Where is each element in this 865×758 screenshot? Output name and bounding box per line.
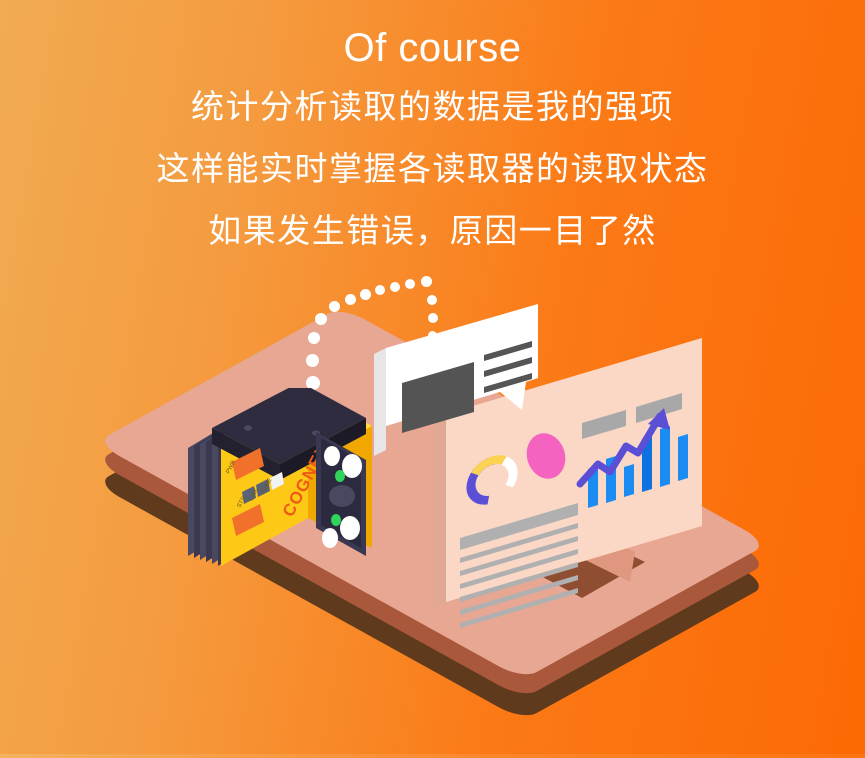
promo-banner: PWR STS LINK TUNE COGNEX Of course 统计分析读…	[0, 0, 865, 758]
led-white	[324, 446, 340, 466]
signal-dot	[315, 313, 327, 325]
led-green	[335, 470, 345, 482]
chart-bar	[624, 464, 634, 497]
subtitle-line-1: 统计分析读取的数据是我的强项	[0, 76, 865, 138]
signal-dot	[306, 354, 319, 367]
signal-dot	[360, 289, 371, 300]
subtitle-line-3: 如果发生错误，原因一目了然	[0, 200, 865, 262]
screw-dot	[244, 425, 252, 430]
led-white	[340, 516, 360, 540]
signal-dot	[308, 332, 320, 344]
bottom-strip	[0, 754, 865, 758]
chart-bar	[678, 434, 688, 481]
headline-block: Of course 统计分析读取的数据是我的强项 这样能实时掌握各读取器的读取状…	[0, 0, 865, 262]
signal-dot	[345, 294, 356, 305]
card-side	[374, 348, 386, 456]
signal-dot	[329, 301, 340, 312]
page-title: Of course	[0, 20, 865, 76]
led-green	[331, 514, 341, 526]
camera-lens	[329, 485, 355, 507]
chart-bar	[660, 426, 670, 487]
cognex-barcode-reader: PWR STS LINK TUNE COGNEX	[176, 388, 391, 588]
subtitle-line-2: 这样能实时掌握各读取器的读取状态	[0, 138, 865, 200]
message-card	[372, 282, 552, 467]
led-white	[342, 454, 362, 478]
led-white	[322, 528, 338, 548]
